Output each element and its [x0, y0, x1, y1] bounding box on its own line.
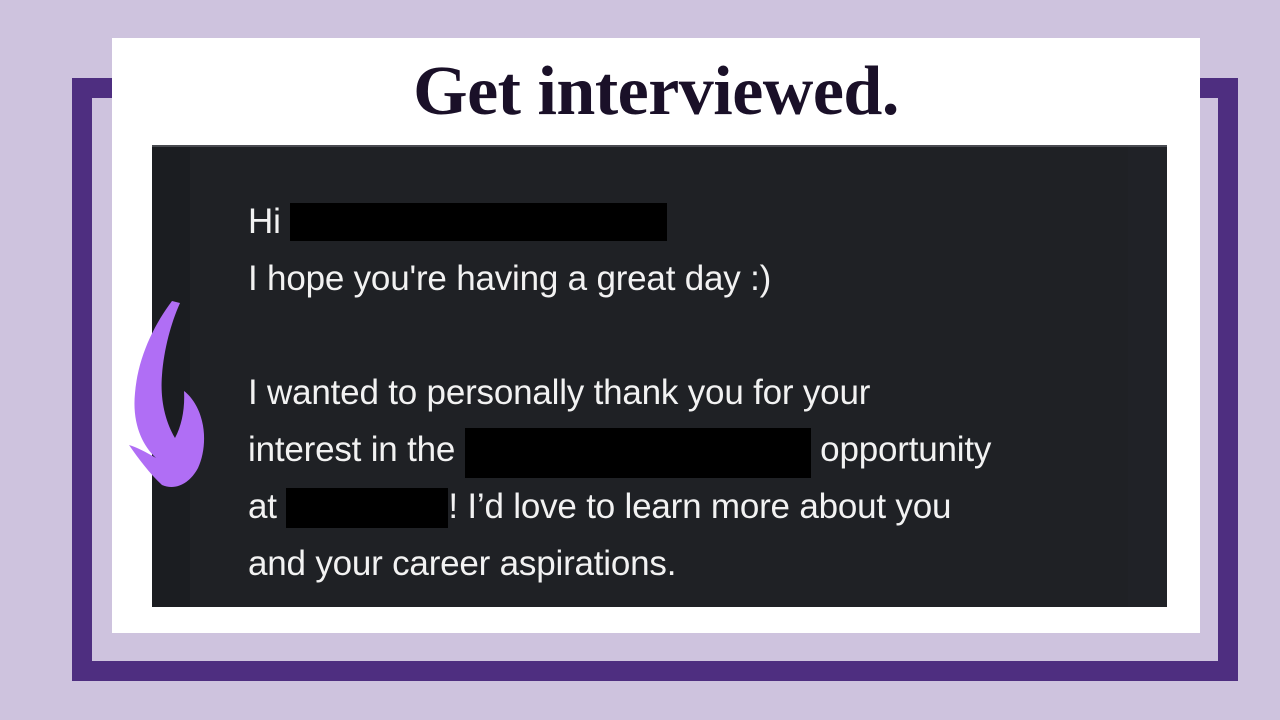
message-line-closing: and your career aspirations.: [248, 535, 1118, 592]
greeting-prefix: Hi: [248, 202, 290, 241]
role-prefix: interest in the: [248, 430, 465, 469]
redaction-bar-company-name: [286, 488, 448, 528]
redaction-bar-recipient-name: [290, 203, 667, 241]
message-line-greeting: Hi: [248, 193, 1118, 250]
role-suffix: opportunity: [811, 430, 992, 469]
message-line-pleasantry: I hope you're having a great day :): [248, 250, 1118, 307]
page-title: Get interviewed.: [112, 38, 1200, 145]
email-screenshot-panel: Hi I hope you're having a great day :) I…: [152, 145, 1167, 607]
company-prefix: at: [248, 487, 286, 526]
message-line-thanks: I wanted to personally thank you for you…: [248, 364, 1118, 421]
message-line-blank: [248, 307, 1118, 364]
message-line-company: at ! I’d love to learn more about you: [248, 478, 1118, 535]
content-card: Get interviewed. Hi I hope you're having…: [112, 38, 1200, 633]
curved-down-arrow-icon: [128, 295, 218, 490]
panel-top-hairline: [152, 145, 1167, 147]
company-suffix: ! I’d love to learn more about you: [448, 487, 951, 526]
message-line-role: interest in the opportunity: [248, 421, 1118, 478]
email-message-body: Hi I hope you're having a great day :) I…: [248, 193, 1118, 592]
panel-right-band: [1128, 145, 1167, 607]
redaction-bar-role-title: [465, 428, 811, 478]
